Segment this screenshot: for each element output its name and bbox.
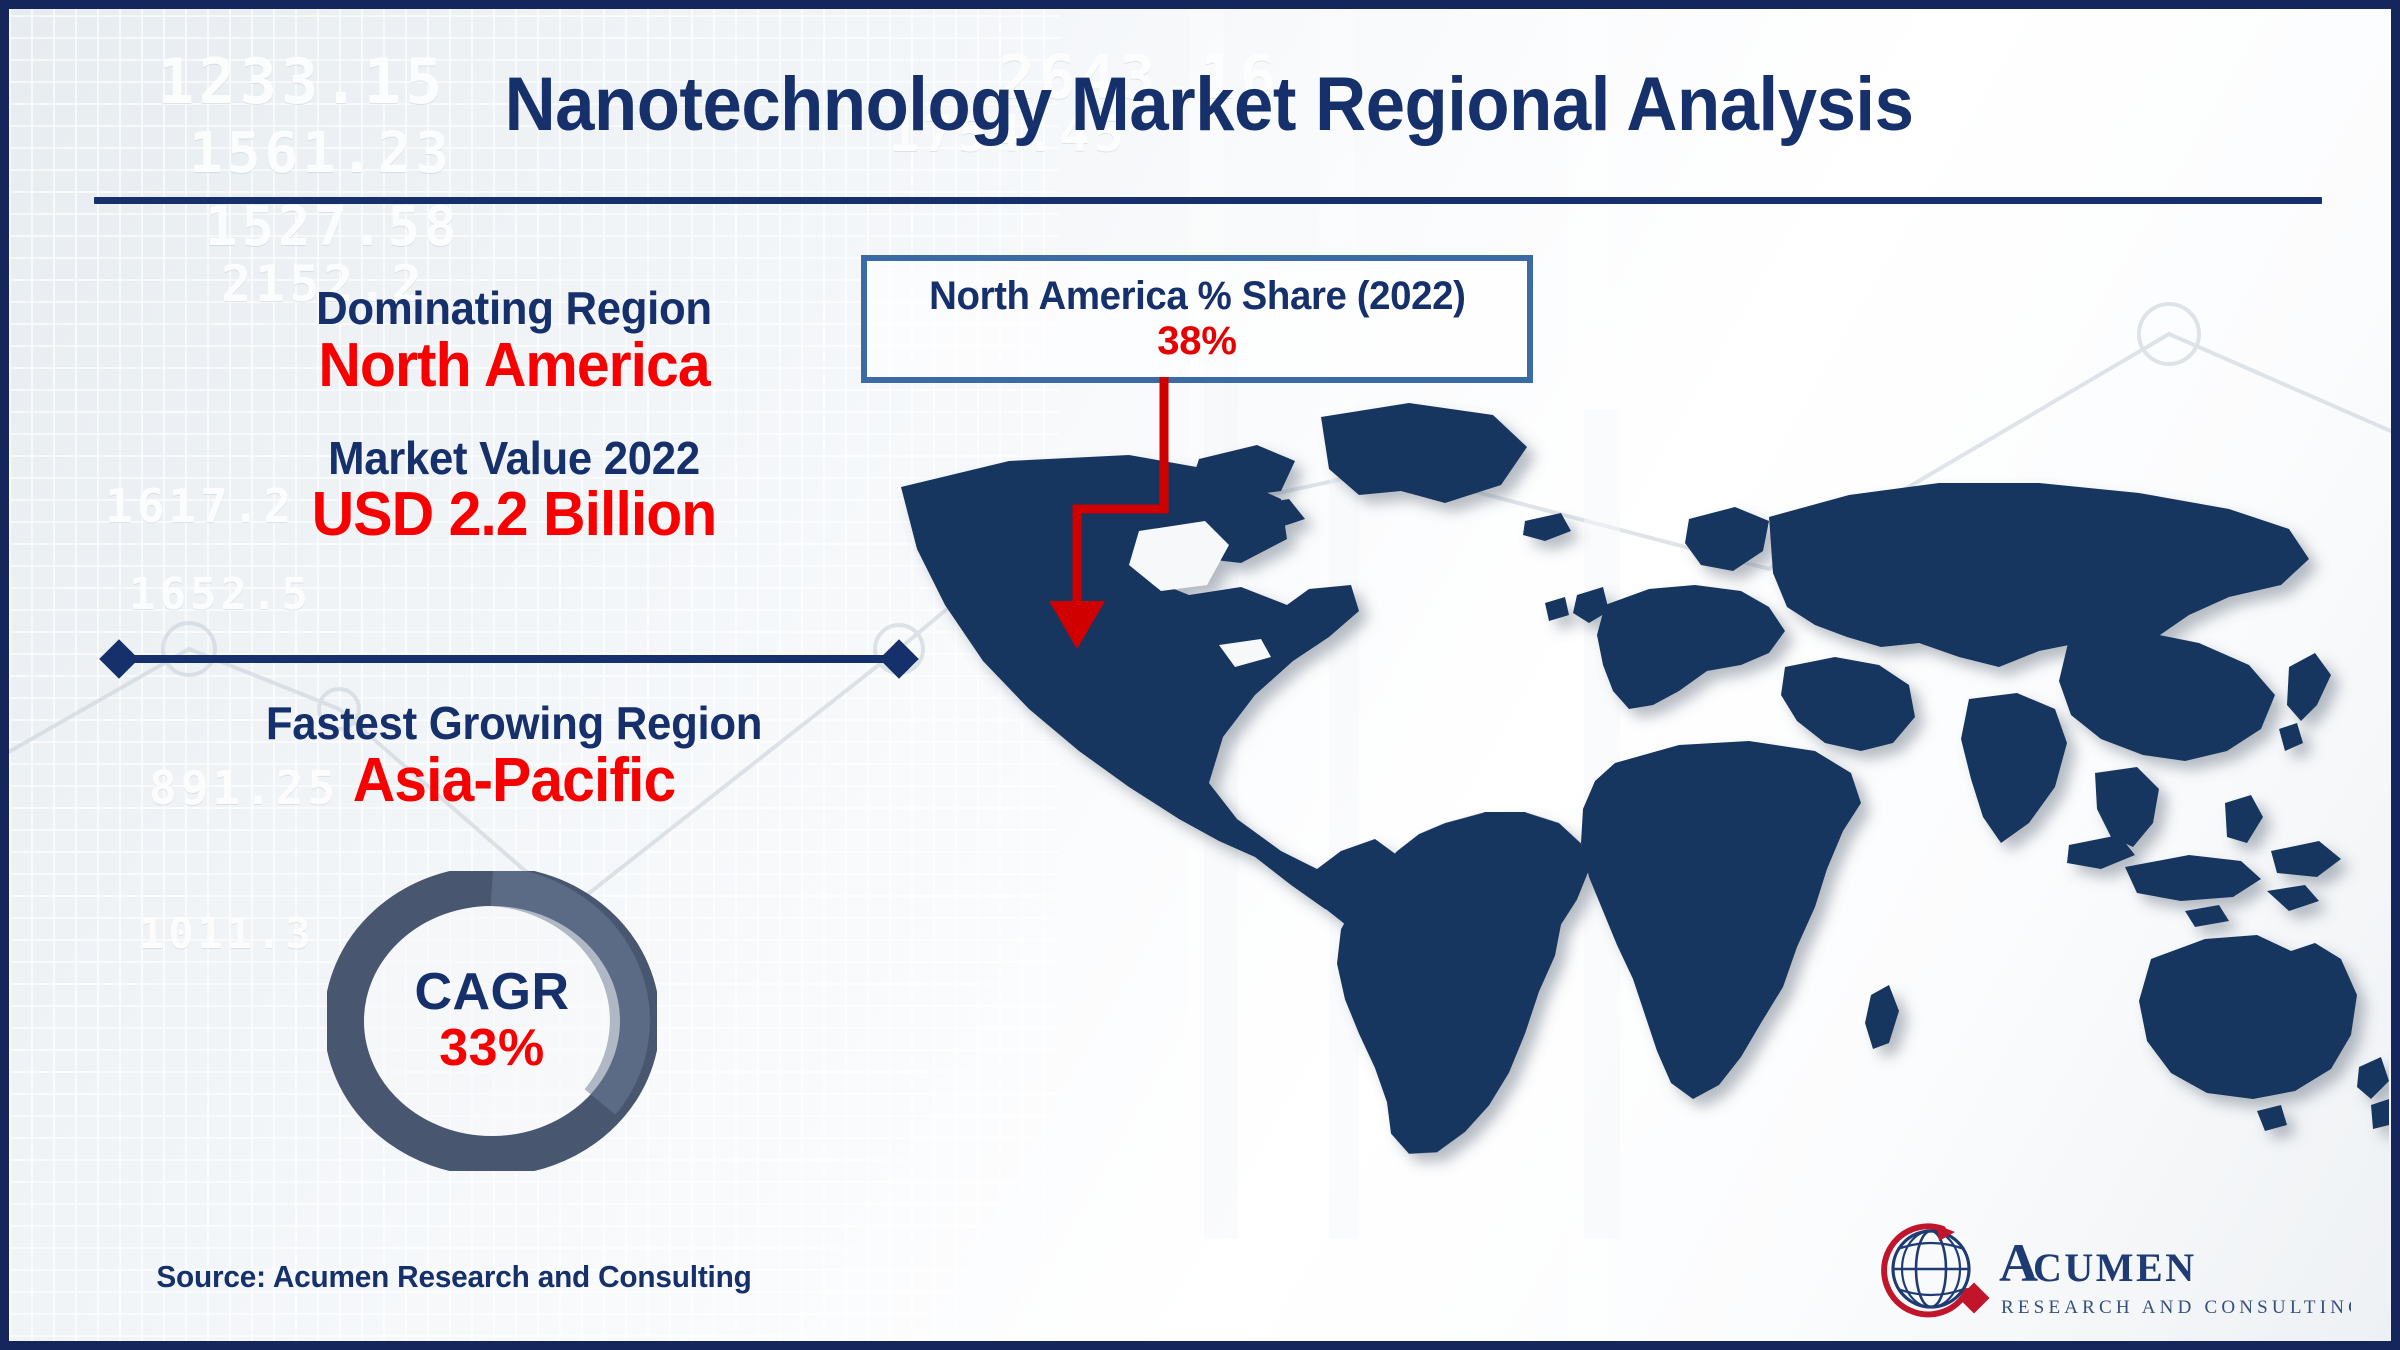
fastest-growing-label: Fastest Growing Region bbox=[101, 699, 928, 748]
acumen-logo: A CUMEN RESEARCH AND CONSULTING bbox=[1871, 1221, 2351, 1329]
map-landmasses bbox=[901, 403, 2389, 1154]
background-ghost-number: 1652.5 bbox=[129, 569, 312, 620]
market-value-label: Market Value 2022 bbox=[101, 434, 928, 483]
cagr-donut-center: CAGR 33% bbox=[327, 871, 657, 1171]
market-value-value: USD 2.2 Billion bbox=[101, 482, 928, 549]
source-text: Source: Acumen Research and Consulting bbox=[156, 1259, 751, 1295]
stats-group-bottom: Fastest Growing Region Asia-Pacific bbox=[79, 699, 949, 815]
cagr-value: 33% bbox=[439, 1019, 545, 1077]
section-divider bbox=[97, 639, 921, 679]
page-title: Nanotechnology Market Regional Analysis bbox=[93, 61, 2325, 148]
world-map-svg bbox=[889, 399, 2389, 1189]
acumen-tagline: RESEARCH AND CONSULTING bbox=[2001, 1297, 2351, 1318]
infographic-poster: 1233.151561.231527.582152.21617.21652.58… bbox=[0, 0, 2400, 1350]
background-ghost-number: 1011.3 bbox=[139, 909, 315, 958]
globe-icon bbox=[1884, 1225, 1989, 1314]
acumen-logo-svg: A CUMEN RESEARCH AND CONSULTING bbox=[1871, 1221, 2351, 1329]
cagr-donut: CAGR 33% bbox=[327, 871, 657, 1171]
background-ghost-number: 1527.58 bbox=[205, 195, 461, 258]
fastest-growing-value: Asia-Pacific bbox=[101, 748, 928, 815]
svg-text:CUMEN: CUMEN bbox=[2033, 1245, 2197, 1290]
callout-value: 38% bbox=[1157, 318, 1236, 364]
cagr-label: CAGR bbox=[414, 965, 569, 1020]
stats-group-top: Dominating Region North America Market V… bbox=[79, 284, 949, 549]
callout-label: North America % Share (2022) bbox=[929, 274, 1465, 318]
dominating-region-label: Dominating Region bbox=[101, 284, 928, 333]
dominating-region-value: North America bbox=[101, 333, 928, 400]
north-america-share-callout: North America % Share (2022) 38% bbox=[861, 255, 1533, 383]
divider-bar bbox=[119, 655, 899, 663]
world-map bbox=[889, 399, 2389, 1189]
title-underline bbox=[94, 197, 2322, 204]
